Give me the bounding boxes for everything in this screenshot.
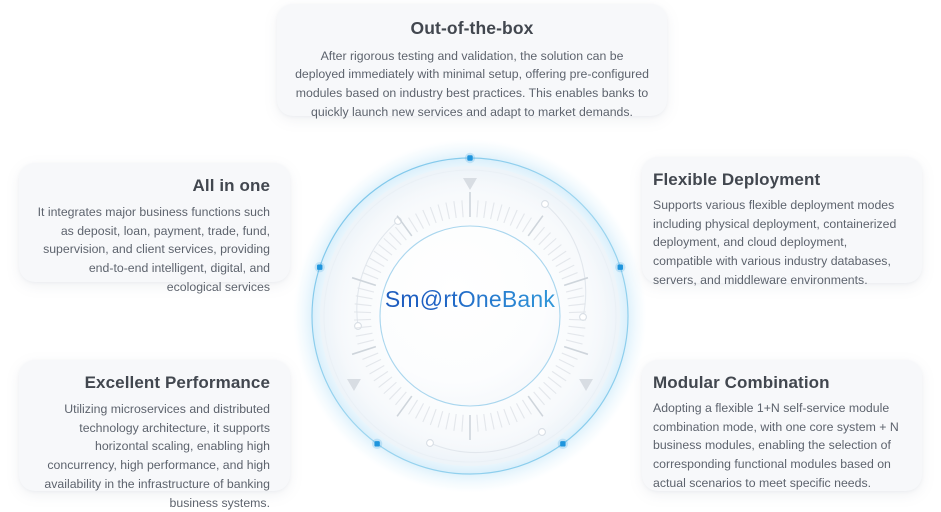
feature-card-flexible-deployment[interactable]: Flexible Deployment Supports various fle… <box>642 157 922 283</box>
feature-diagram: Out-of-the-box After rigorous testing an… <box>0 0 941 500</box>
node-top[interactable] <box>467 155 472 160</box>
core-circle <box>380 226 560 406</box>
dial-tick <box>569 312 586 313</box>
node-bottom-right[interactable] <box>560 441 565 446</box>
card-title-all-in-one: All in one <box>37 175 270 197</box>
hero-circular-graphic: Sm@rtOneBank <box>290 136 650 496</box>
card-body-excellent-performance: Utilizing microservices and distributed … <box>37 400 270 512</box>
feature-card-modular-combination[interactable]: Modular Combination Adopting a flexible … <box>642 360 922 491</box>
dial-tick <box>354 319 371 320</box>
feature-card-out-of-the-box[interactable]: Out-of-the-box After rigorous testing an… <box>277 4 667 116</box>
card-body-all-in-one: It integrates major business functions s… <box>37 203 270 296</box>
card-title-flexible-deployment: Flexible Deployment <box>653 169 904 191</box>
feature-card-all-in-one[interactable]: All in one It integrates major business … <box>19 163 290 282</box>
node-bottom-left[interactable] <box>374 441 379 446</box>
feature-card-excellent-performance[interactable]: Excellent Performance Utilizing microser… <box>19 360 290 491</box>
node-right[interactable] <box>618 264 623 269</box>
dial-tick <box>354 312 371 313</box>
dial-tick <box>569 319 586 320</box>
card-title-excellent-performance: Excellent Performance <box>37 372 270 394</box>
card-body-modular-combination: Adopting a flexible 1+N self-service mod… <box>653 399 904 492</box>
hero-rings-svg <box>290 136 650 496</box>
card-title-out-of-the-box: Out-of-the-box <box>295 17 649 40</box>
card-body-flexible-deployment: Supports various flexible deployment mod… <box>653 196 904 289</box>
node-left[interactable] <box>317 264 322 269</box>
card-body-out-of-the-box: After rigorous testing and validation, t… <box>295 47 649 122</box>
card-title-modular-combination: Modular Combination <box>653 372 904 394</box>
